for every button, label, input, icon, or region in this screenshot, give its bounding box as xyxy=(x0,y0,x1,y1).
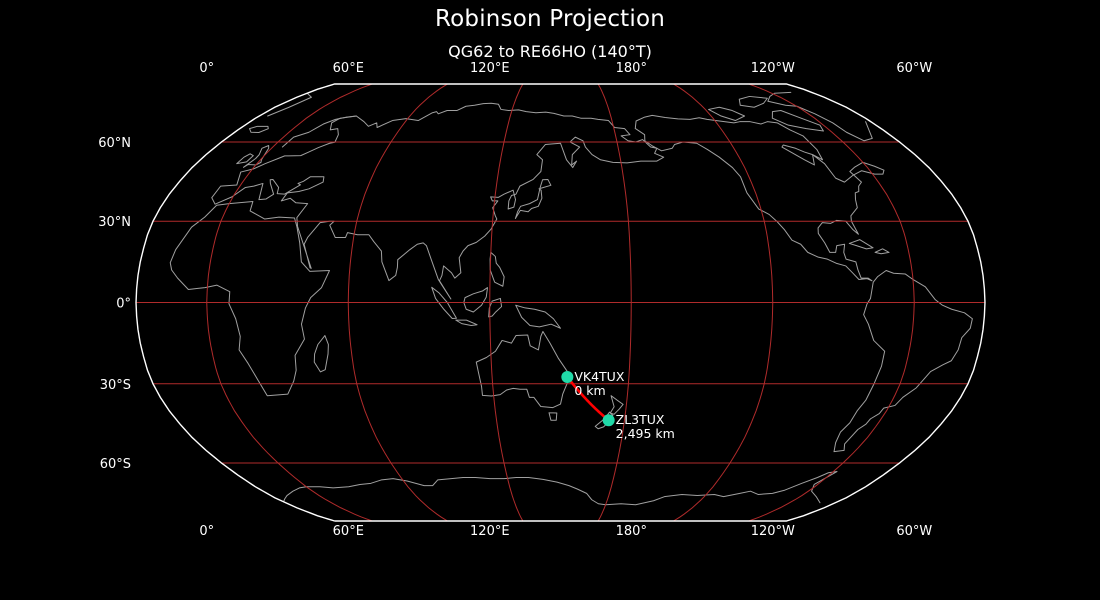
lon-tick-bot: 180° xyxy=(616,524,647,539)
graticule-layer xyxy=(136,84,985,521)
lon-tick-top: 180° xyxy=(616,61,647,76)
station-label-zl3tux: ZL3TUX xyxy=(616,412,665,427)
map-figure: Robinson Projection QG62 to RE66HO (140°… xyxy=(0,0,1100,600)
lon-tick-bot: 120°E xyxy=(470,524,510,539)
station-distance-zl3tux: 2,495 km xyxy=(616,426,675,441)
lon-tick-top: 120°W xyxy=(751,61,795,76)
lon-tick-top: 0° xyxy=(199,61,214,76)
coastlines-layer xyxy=(170,92,972,504)
station-marker-zl3tux[interactable] xyxy=(603,414,615,426)
lon-tick-top: 120°E xyxy=(470,61,510,76)
lon-tick-top: 60°W xyxy=(896,61,932,76)
lat-tick-label: 30°N xyxy=(98,215,131,230)
lon-tick-top: 60°E xyxy=(333,61,364,76)
robinson-map-canvas: VK4TUX0 kmZL3TUX2,495 km 0°0°60°E60°E120… xyxy=(0,0,1100,600)
lat-tick-label: 0° xyxy=(116,297,131,312)
lat-tick-label: 60°S xyxy=(100,457,131,472)
lon-tick-bot: 60°W xyxy=(896,524,932,539)
lon-tick-bot: 0° xyxy=(199,524,214,539)
lat-tick-label: 30°S xyxy=(100,378,131,393)
station-label-vk4tux: VK4TUX xyxy=(574,369,624,384)
station-marker-vk4tux[interactable] xyxy=(561,371,573,383)
station-markers-layer[interactable]: VK4TUX0 kmZL3TUX2,495 km xyxy=(561,369,675,441)
axis-tick-labels: 0°0°60°E60°E120°E120°E180°180°120°W120°W… xyxy=(98,61,932,539)
lon-tick-bot: 120°W xyxy=(751,524,795,539)
lon-tick-bot: 60°E xyxy=(333,524,364,539)
station-distance-vk4tux: 0 km xyxy=(574,383,605,398)
lat-tick-label: 60°N xyxy=(98,136,131,151)
